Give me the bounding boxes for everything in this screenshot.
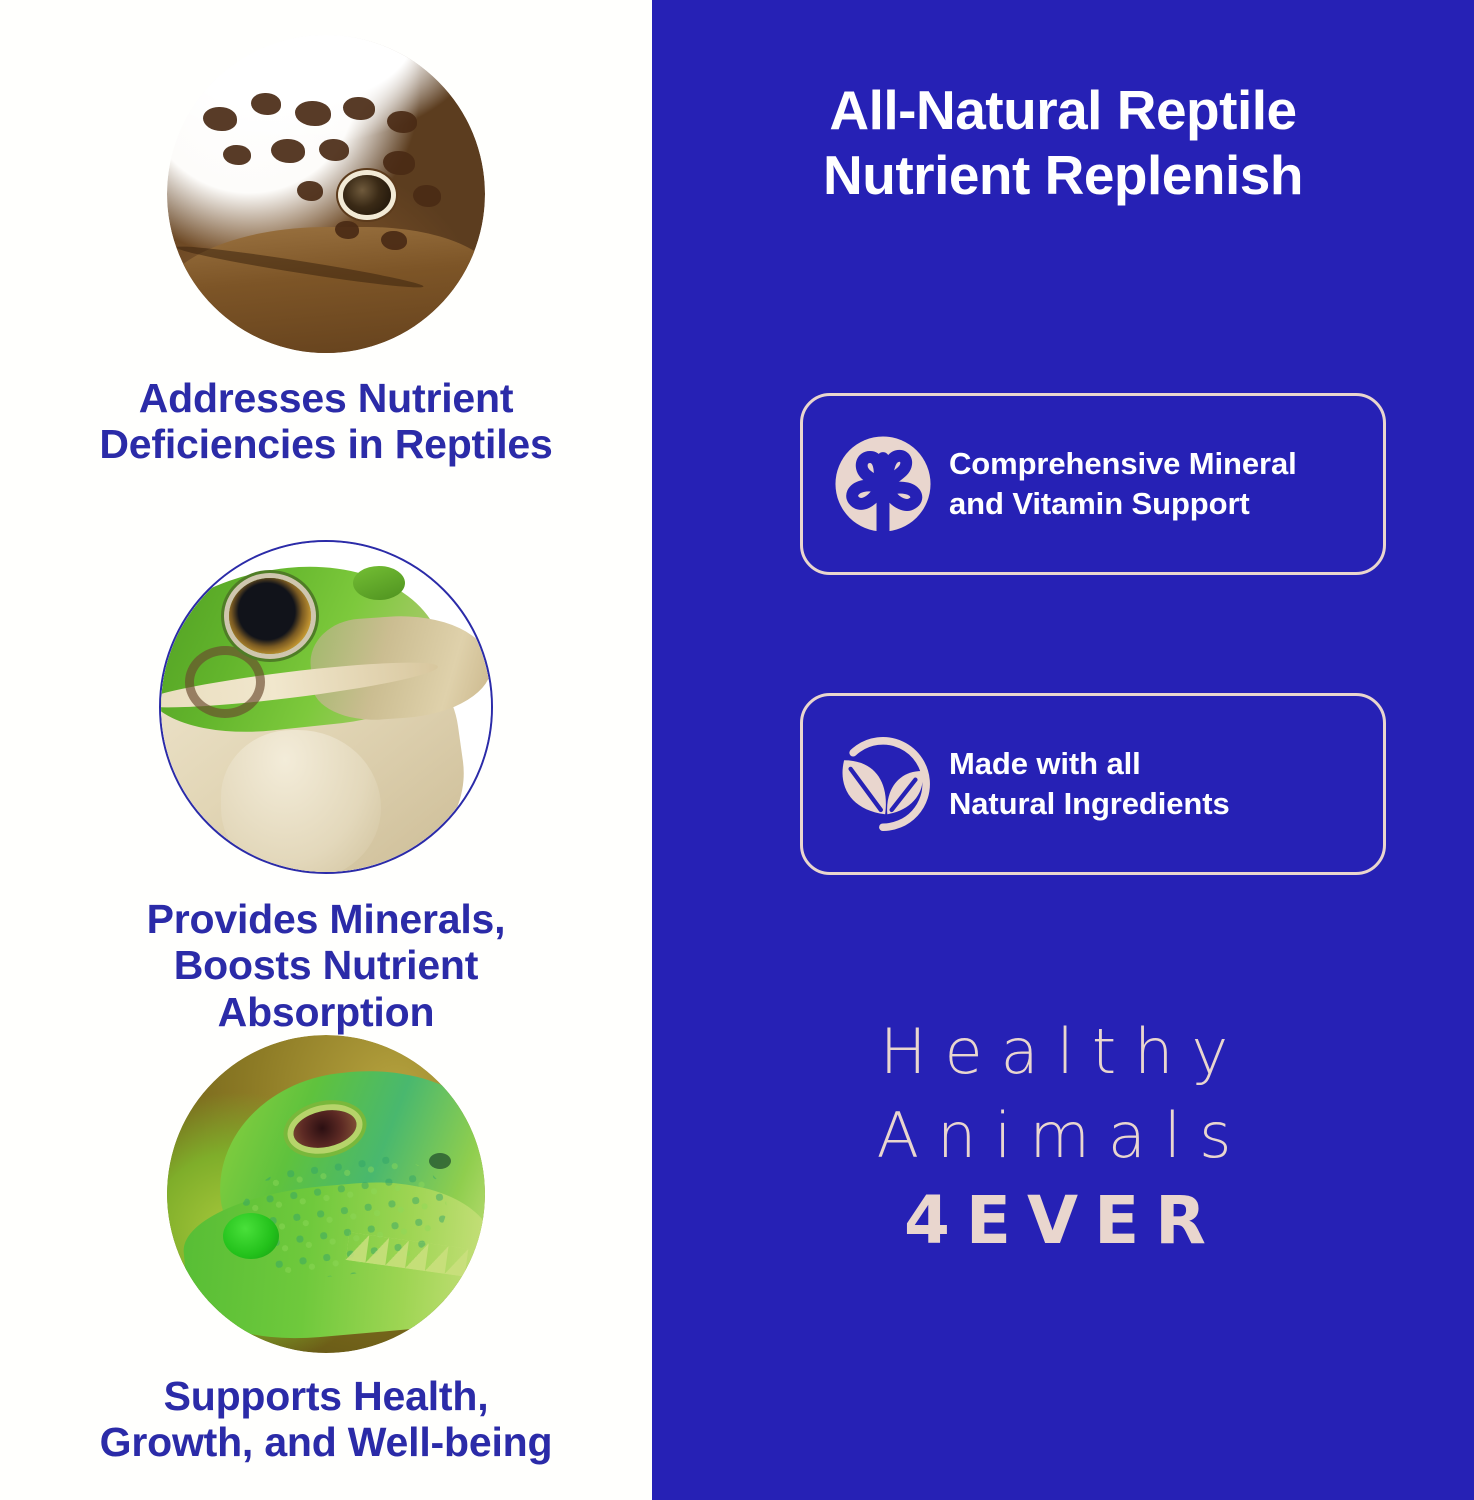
benefit-caption-line: Supports Health, bbox=[14, 1373, 638, 1419]
gecko-spot bbox=[297, 181, 323, 201]
benefit-caption-2: Provides Minerals, Boosts Nutrient Absor… bbox=[0, 896, 652, 1035]
benefit-item-2: Provides Minerals, Boosts Nutrient Absor… bbox=[0, 540, 652, 1035]
gecko-spot bbox=[203, 107, 237, 131]
feature-box-mineral-vitamin[interactable]: Comprehensive Mineral and Vitamin Suppor… bbox=[800, 393, 1386, 575]
feature-text-line: Comprehensive Mineral bbox=[949, 444, 1297, 484]
headline-line: All-Natural Reptile bbox=[686, 78, 1440, 143]
green-tree-frog-photo bbox=[159, 540, 493, 874]
leopard-gecko-photo bbox=[167, 35, 485, 353]
benefit-caption-3: Supports Health, Growth, and Well-being bbox=[0, 1373, 652, 1466]
leaves-in-circle-icon bbox=[829, 730, 937, 838]
gecko-eye bbox=[343, 175, 391, 215]
product-infographic: Addresses Nutrient Deficiencies in Repti… bbox=[0, 0, 1474, 1500]
headline-line: Nutrient Replenish bbox=[686, 143, 1440, 208]
feature-text-line: and Vitamin Support bbox=[949, 484, 1297, 524]
frog-far-eye bbox=[353, 566, 405, 600]
brand-line-healthy: Healthy bbox=[652, 1010, 1474, 1094]
feature-box-2-text: Made with all Natural Ingredients bbox=[949, 744, 1230, 823]
benefit-item-1: Addresses Nutrient Deficiencies in Repti… bbox=[0, 35, 652, 468]
iguana-nostril bbox=[429, 1153, 451, 1169]
benefit-caption-line: Boosts Nutrient bbox=[14, 942, 638, 988]
brand-line-animals: Animals bbox=[652, 1094, 1474, 1178]
gecko-branch bbox=[167, 227, 485, 353]
brand-line-4ever: 4EVER bbox=[652, 1177, 1474, 1264]
gecko-image-body bbox=[167, 35, 485, 353]
gecko-spot bbox=[381, 231, 407, 250]
benefit-item-3: Supports Health, Growth, and Well-being bbox=[0, 1035, 652, 1466]
gecko-spot bbox=[223, 145, 251, 165]
frog-tympanum bbox=[185, 646, 265, 718]
brand-lockup: Healthy Animals 4EVER bbox=[652, 1010, 1474, 1264]
gecko-spot bbox=[295, 101, 331, 126]
gecko-spot bbox=[387, 111, 417, 133]
gecko-spot bbox=[413, 185, 441, 207]
gecko-spot bbox=[343, 97, 375, 120]
benefit-caption-1: Addresses Nutrient Deficiencies in Repti… bbox=[0, 375, 652, 468]
benefit-caption-line: Addresses Nutrient bbox=[14, 375, 638, 421]
iguana-image-body bbox=[167, 1035, 485, 1353]
benefit-caption-line: Absorption bbox=[14, 989, 638, 1035]
feature-text-line: Natural Ingredients bbox=[949, 784, 1230, 824]
tree-in-circle-icon bbox=[829, 430, 937, 538]
iguana-tympanum bbox=[223, 1213, 279, 1259]
green-iguana-photo bbox=[167, 1035, 485, 1353]
frog-image-body bbox=[161, 542, 491, 872]
gecko-spot bbox=[251, 93, 281, 115]
feature-text-line: Made with all bbox=[949, 744, 1230, 784]
feature-box-natural-ingredients[interactable]: Made with all Natural Ingredients bbox=[800, 693, 1386, 875]
benefit-caption-line: Deficiencies in Reptiles bbox=[14, 421, 638, 467]
feature-box-1-text: Comprehensive Mineral and Vitamin Suppor… bbox=[949, 444, 1297, 523]
gecko-spot bbox=[271, 139, 305, 163]
gecko-spot bbox=[383, 151, 415, 175]
benefit-caption-line: Growth, and Well-being bbox=[14, 1419, 638, 1465]
gecko-spot bbox=[319, 139, 349, 161]
benefits-column: Addresses Nutrient Deficiencies in Repti… bbox=[0, 0, 652, 1500]
frog-eye bbox=[229, 578, 311, 654]
brand-panel: All-Natural Reptile Nutrient Replenish bbox=[652, 0, 1474, 1500]
benefit-caption-line: Provides Minerals, bbox=[14, 896, 638, 942]
gecko-spot bbox=[335, 221, 359, 239]
product-headline: All-Natural Reptile Nutrient Replenish bbox=[652, 78, 1474, 209]
